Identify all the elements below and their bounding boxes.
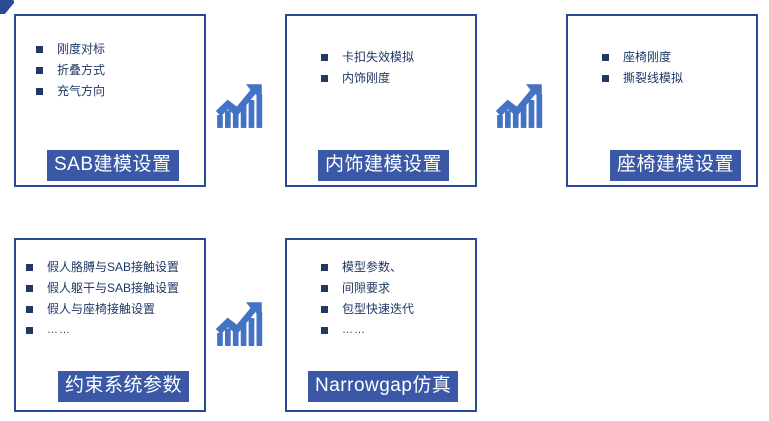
bullet-square-icon [602, 54, 609, 61]
list-item: 内饰刚度 [321, 71, 467, 86]
bullet-square-icon [602, 75, 609, 82]
bullet-square-icon [26, 327, 33, 334]
card-label-restraint-params[interactable]: 约束系统参数 [58, 371, 189, 402]
list-item: 撕裂线模拟 [602, 71, 748, 86]
bullet-label: 卡扣失效模拟 [342, 50, 467, 65]
card-seat-modeling[interactable]: 座椅刚度 撕裂线模拟 座椅建模设置 [566, 14, 758, 187]
card-narrowgap-sim[interactable]: 模型参数、 间隙要求 包型快速迭代 …… Narrowgap仿真 [285, 238, 477, 412]
bullet-square-icon [321, 306, 328, 313]
list-item: 充气方向 [36, 84, 196, 99]
bullet-list-restraint-params: 假人胳膊与SAB接触设置 假人躯干与SAB接触设置 假人与座椅接触设置 …… [16, 260, 204, 344]
bullet-square-icon [26, 285, 33, 292]
list-item: 折叠方式 [36, 63, 196, 78]
bullet-list-sab-modeling: 刚度对标 折叠方式 充气方向 [16, 42, 204, 105]
bullet-list-narrowgap-sim: 模型参数、 间隙要求 包型快速迭代 …… [287, 260, 475, 344]
bullet-square-icon [321, 75, 328, 82]
growth-chart-arrow-icon [211, 79, 267, 135]
bullet-label: 包型快速迭代 [342, 302, 467, 317]
list-item: 包型快速迭代 [321, 302, 467, 317]
card-restraint-params[interactable]: 假人胳膊与SAB接触设置 假人躯干与SAB接触设置 假人与座椅接触设置 …… 约… [14, 238, 206, 412]
bullet-square-icon [36, 88, 43, 95]
list-item: 模型参数、 [321, 260, 467, 275]
list-item: 座椅刚度 [602, 50, 748, 65]
bullet-square-icon [36, 67, 43, 74]
list-item: 卡扣失效模拟 [321, 50, 467, 65]
bullet-square-icon [26, 306, 33, 313]
list-item: …… [321, 323, 467, 338]
bullet-list-seat-modeling: 座椅刚度 撕裂线模拟 [568, 50, 756, 92]
bullet-square-icon [26, 264, 33, 271]
list-item: 假人胳膊与SAB接触设置 [26, 260, 198, 275]
bullet-square-icon [321, 54, 328, 61]
list-item: …… [26, 323, 198, 338]
bullet-label: 折叠方式 [57, 63, 196, 78]
bullet-square-icon [321, 327, 328, 334]
growth-chart-arrow-icon [211, 297, 267, 353]
bullet-label: 刚度对标 [57, 42, 196, 57]
list-item: 假人与座椅接触设置 [26, 302, 198, 317]
bullet-label: 撕裂线模拟 [623, 71, 748, 86]
bullet-square-icon [36, 46, 43, 53]
list-item: 刚度对标 [36, 42, 196, 57]
bullet-label: …… [47, 323, 198, 338]
card-interior-modeling[interactable]: 卡扣失效模拟 内饰刚度 内饰建模设置 [285, 14, 477, 187]
card-label-sab-modeling[interactable]: SAB建模设置 [47, 150, 179, 181]
bullet-square-icon [321, 285, 328, 292]
card-sab-modeling[interactable]: 刚度对标 折叠方式 充气方向 SAB建模设置 [14, 14, 206, 187]
bullet-label: 间隙要求 [342, 281, 467, 296]
bullet-list-interior-modeling: 卡扣失效模拟 内饰刚度 [287, 50, 475, 92]
bullet-square-icon [321, 264, 328, 271]
list-item: 假人躯干与SAB接触设置 [26, 281, 198, 296]
bullet-label: 内饰刚度 [342, 71, 467, 86]
corner-decoration [0, 0, 14, 14]
card-label-seat-modeling[interactable]: 座椅建模设置 [610, 150, 741, 181]
growth-chart-arrow-icon [491, 79, 547, 135]
bullet-label: 充气方向 [57, 84, 196, 99]
bullet-label: 模型参数、 [342, 260, 467, 275]
bullet-label: 座椅刚度 [623, 50, 748, 65]
corner-wedge-shape [0, 0, 14, 14]
bullet-label: …… [342, 323, 467, 338]
bullet-label: 假人与座椅接触设置 [47, 302, 198, 317]
diagram-canvas: 刚度对标 折叠方式 充气方向 SAB建模设置 [0, 0, 769, 421]
list-item: 间隙要求 [321, 281, 467, 296]
card-label-interior-modeling[interactable]: 内饰建模设置 [318, 150, 449, 181]
card-label-narrowgap-sim[interactable]: Narrowgap仿真 [308, 371, 458, 402]
bullet-label: 假人躯干与SAB接触设置 [47, 281, 198, 296]
bullet-label: 假人胳膊与SAB接触设置 [47, 260, 198, 275]
